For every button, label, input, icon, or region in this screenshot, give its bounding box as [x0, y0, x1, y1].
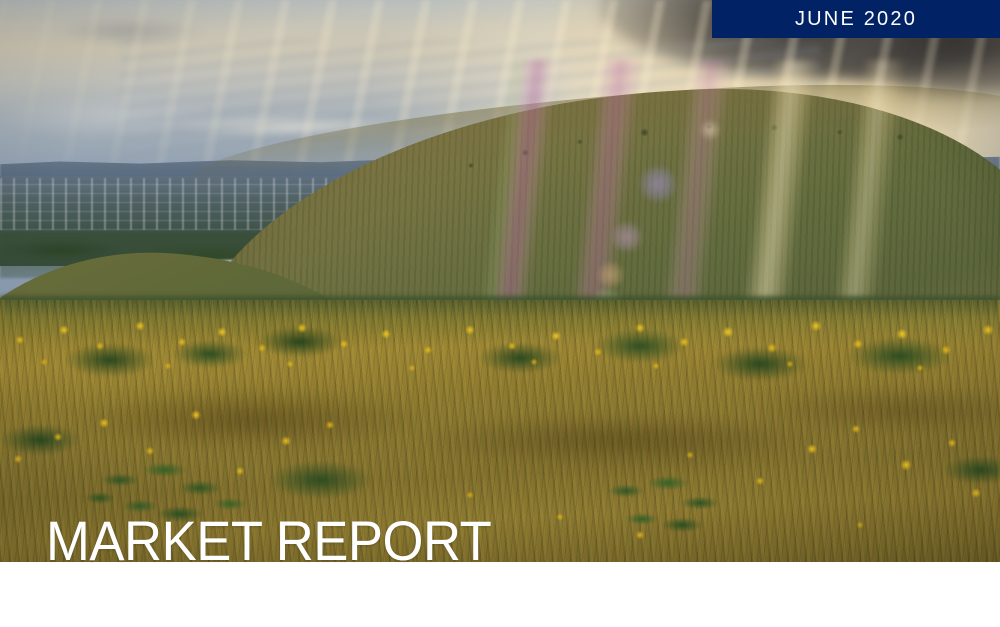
lens-flare-orb — [612, 222, 642, 252]
date-badge-label: JUNE 2020 — [795, 8, 917, 31]
balsamroot-flower-band — [0, 316, 1000, 388]
balsamroot-plant — [590, 455, 750, 555]
lens-flare-orb — [640, 166, 676, 202]
hero-photo — [0, 0, 1000, 562]
lens-flare-orb — [700, 120, 720, 140]
lens-flare-orb — [598, 262, 624, 288]
date-badge: JUNE 2020 — [712, 0, 1000, 38]
page-title: MARKET REPORT — [46, 513, 491, 569]
market-report-cover: JUNE 2020 MARKET REPORT BOISE, IDAHO AND… — [0, 0, 1000, 627]
